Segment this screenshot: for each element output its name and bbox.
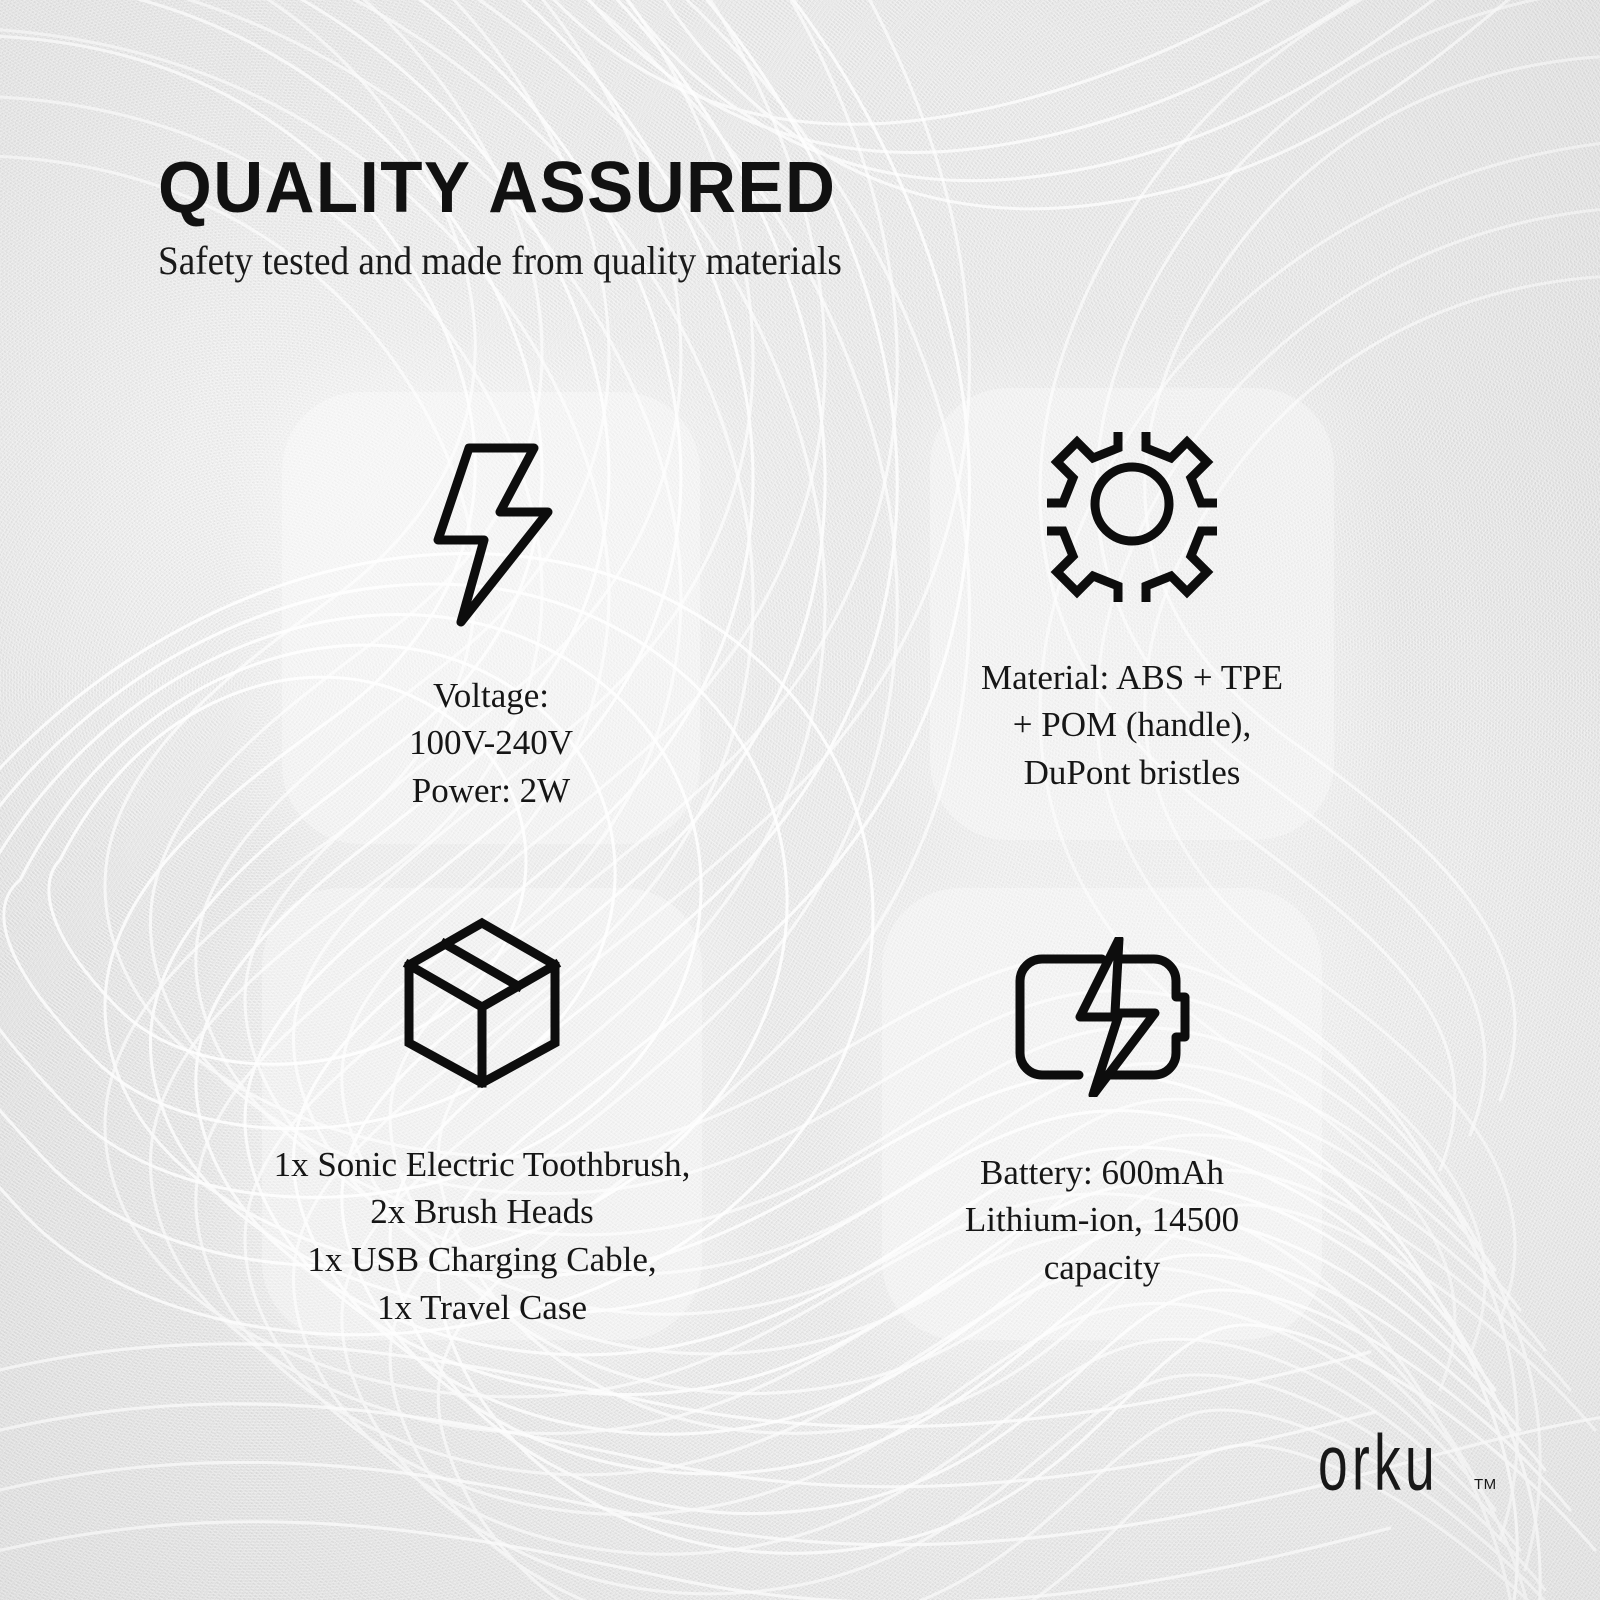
- card-battery-text: Battery: 600mAh Lithium-ion, 14500 capac…: [965, 1149, 1239, 1292]
- card-voltage-text: Voltage: 100V-240V Power: 2W: [409, 672, 573, 815]
- battery-charging-icon: [1007, 937, 1197, 1097]
- brand-logo: orku TM: [1318, 1432, 1497, 1499]
- infographic-page: QUALITY ASSURED Safety tested and made f…: [0, 0, 1600, 1600]
- feature-card-contents: 1x Sonic Electric Toothbrush, 2x Brush H…: [262, 888, 702, 1340]
- card-material-text: Material: ABS + TPE + POM (handle), DuPo…: [981, 654, 1283, 797]
- brand-wordmark: orku: [1318, 1428, 1439, 1499]
- feature-card-voltage: Voltage: 100V-240V Power: 2W: [282, 392, 700, 844]
- page-title: QUALITY ASSURED: [158, 152, 1118, 225]
- gear-icon: [1047, 432, 1217, 602]
- feature-card-material: Material: ABS + TPE + POM (handle), DuPo…: [930, 388, 1334, 840]
- header: QUALITY ASSURED Safety tested and made f…: [158, 152, 1158, 283]
- trademark-symbol: TM: [1474, 1476, 1497, 1493]
- lightning-bolt-icon: [416, 440, 566, 630]
- package-box-icon: [402, 917, 562, 1089]
- card-contents-text: 1x Sonic Electric Toothbrush, 2x Brush H…: [274, 1141, 691, 1331]
- page-subtitle: Safety tested and made from quality mate…: [158, 239, 1088, 283]
- feature-card-battery: Battery: 600mAh Lithium-ion, 14500 capac…: [882, 888, 1322, 1340]
